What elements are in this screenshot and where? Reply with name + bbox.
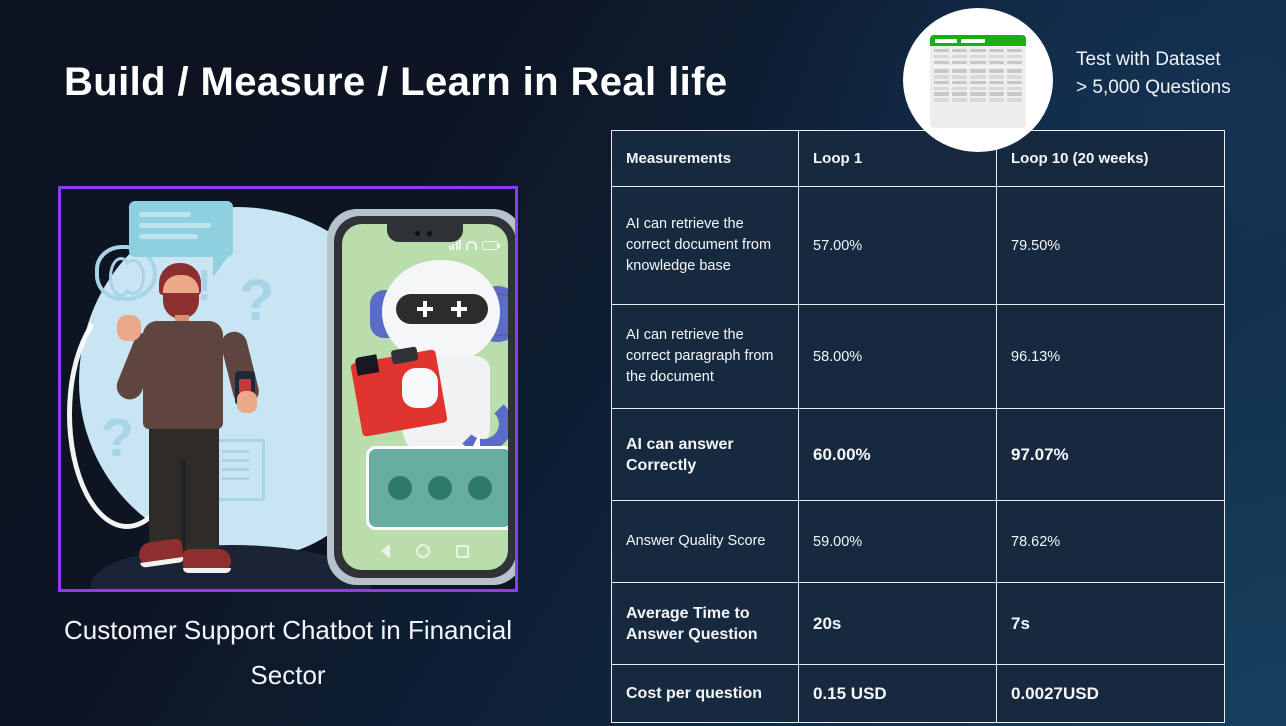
spreadsheet-row <box>934 87 1022 90</box>
row-label: Answer Quality Score <box>612 501 799 583</box>
table-row: Average Time to Answer Question 20s 7s <box>612 583 1225 665</box>
results-table: Measurements Loop 1 Loop 10 (20 weeks) A… <box>611 130 1225 723</box>
robot-hand-icon <box>402 368 438 408</box>
spreadsheet-row <box>934 81 1022 84</box>
clipboard-fold-icon <box>355 354 380 376</box>
spreadsheet-row <box>934 49 1022 52</box>
recents-icon <box>456 545 469 558</box>
smartphone-device <box>327 209 518 585</box>
spreadsheet-row <box>934 98 1022 101</box>
row-value-loop-1: 57.00% <box>799 187 997 305</box>
robot-arm-icon <box>454 396 508 452</box>
typing-dot-icon <box>388 476 412 500</box>
row-value-loop-10: 0.0027USD <box>997 665 1225 723</box>
callout-text: Test with Dataset > 5,000 Questions <box>1076 46 1231 102</box>
illustration-frame: ? ? ? ! ! <box>58 186 518 592</box>
row-value-loop-1: 58.00% <box>799 305 997 409</box>
table-row: AI can answer Correctly 60.00% 97.07% <box>612 409 1225 501</box>
status-bar <box>449 240 499 250</box>
row-value-loop-1: 20s <box>799 583 997 665</box>
home-icon <box>416 544 430 558</box>
person-illustration <box>123 263 253 579</box>
page-title: Build / Measure / Learn in Real life <box>64 60 727 105</box>
spreadsheet-row <box>934 69 1022 72</box>
spreadsheet-row <box>934 75 1022 78</box>
person-jacket-icon <box>143 321 223 429</box>
table-row: AI can retrieve the correct document fro… <box>612 187 1225 305</box>
robot-eye-left-icon <box>417 301 433 317</box>
spreadsheet-rows <box>930 46 1026 128</box>
row-value-loop-10: 96.13% <box>997 305 1225 409</box>
row-value-loop-1: 59.00% <box>799 501 997 583</box>
smartphone-screen <box>342 224 508 570</box>
back-icon <box>381 544 390 558</box>
row-label: AI can retrieve the correct document fro… <box>612 187 799 305</box>
person-left-shoe-icon <box>138 538 185 568</box>
table-row: AI can retrieve the correct paragraph fr… <box>612 305 1225 409</box>
row-value-loop-10: 7s <box>997 583 1225 665</box>
column-header-measurements: Measurements <box>612 131 799 187</box>
robot-avatar <box>360 260 508 470</box>
signal-icon <box>449 240 462 250</box>
table-row: Cost per question 0.15 USD 0.0027USD <box>612 665 1225 723</box>
spreadsheet-row <box>934 61 1022 67</box>
row-value-loop-10: 79.50% <box>997 187 1225 305</box>
spreadsheet-header-bar <box>930 35 1026 46</box>
table-row: Answer Quality Score 59.00% 78.62% <box>612 501 1225 583</box>
row-label: Cost per question <box>612 665 799 723</box>
person-right-shoe-icon <box>183 549 231 573</box>
smartphone-bezel <box>334 216 516 578</box>
row-label: AI can retrieve the correct paragraph fr… <box>612 305 799 409</box>
row-label: AI can answer Correctly <box>612 409 799 501</box>
row-value-loop-1: 0.15 USD <box>799 665 997 723</box>
person-left-hand-icon <box>117 315 141 341</box>
wifi-icon <box>466 241 477 250</box>
row-value-loop-1: 60.00% <box>799 409 997 501</box>
robot-visor-icon <box>396 294 488 324</box>
row-label: Average Time to Answer Question <box>612 583 799 665</box>
android-navigation-bar <box>342 538 508 564</box>
robot-eye-right-icon <box>451 301 467 317</box>
spreadsheet-row <box>934 92 1022 95</box>
typing-indicator-bubble <box>366 446 508 530</box>
spreadsheet-icon <box>930 35 1026 128</box>
chatbot-support-illustration: ? ? ? ! ! <box>61 189 515 589</box>
illustration-caption: Customer Support Chatbot in Financial Se… <box>58 608 518 698</box>
spreadsheet-row <box>934 55 1022 58</box>
callout-line-1: Test with Dataset <box>1076 46 1231 74</box>
person-right-hand-icon <box>237 391 257 413</box>
typing-dot-icon <box>428 476 452 500</box>
typing-dot-icon <box>468 476 492 500</box>
callout-line-2: > 5,000 Questions <box>1076 74 1231 102</box>
speech-bubble-icon <box>129 201 233 257</box>
row-value-loop-10: 78.62% <box>997 501 1225 583</box>
battery-icon <box>482 241 498 250</box>
person-leg-split-icon <box>181 459 186 555</box>
row-value-loop-10: 97.07% <box>997 409 1225 501</box>
